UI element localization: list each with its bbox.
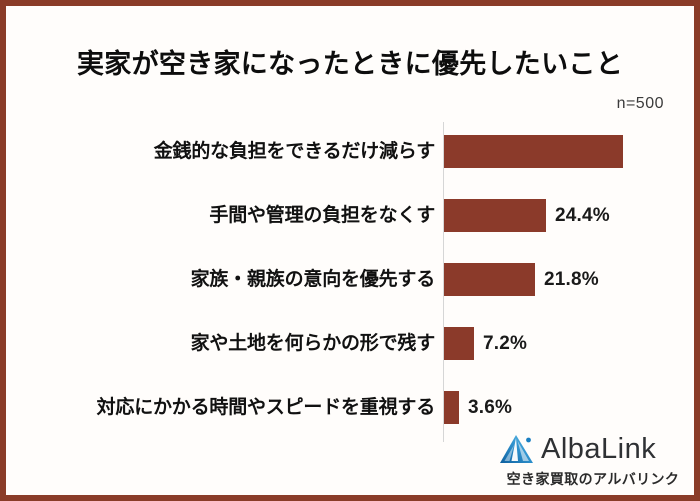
chart-row: 家や土地を何らかの形で残す 7.2% <box>6 327 694 360</box>
category-label: 対応にかかる時間やスピードを重視する <box>35 391 435 424</box>
bar[interactable] <box>444 263 535 296</box>
bar-chart: 金銭的な負担をできるだけ減らす 43.0% 手間や管理の負担をなくす 24.4%… <box>6 6 694 495</box>
bar[interactable] <box>444 199 546 232</box>
bar-value-label: 7.2% <box>483 333 527 355</box>
bar[interactable] <box>444 391 459 424</box>
bar-container: 7.2% <box>444 327 527 360</box>
brand-logo: AlbaLink 空き家買取のアルバリンク <box>498 430 688 490</box>
category-label: 家族・親族の意向を優先する <box>35 263 435 296</box>
chart-row: 対応にかかる時間やスピードを重視する 3.6% <box>6 391 694 424</box>
logo-wordmark: AlbaLink <box>541 433 656 465</box>
category-label: 金銭的な負担をできるだけ減らす <box>35 135 435 168</box>
chart-row: 家族・親族の意向を優先する 21.8% <box>6 263 694 296</box>
bar[interactable] <box>444 327 474 360</box>
bar-container: 43.0% <box>444 135 623 168</box>
albalink-triangle-icon <box>498 433 536 465</box>
bar-container: 24.4% <box>444 199 610 232</box>
chart-row: 金銭的な負担をできるだけ減らす 43.0% <box>6 135 694 168</box>
category-label: 家や土地を何らかの形で残す <box>35 327 435 360</box>
bar-container: 21.8% <box>444 263 599 296</box>
bar-value-label: 21.8% <box>544 269 599 291</box>
chart-row: 手間や管理の負担をなくす 24.4% <box>6 199 694 232</box>
category-label: 手間や管理の負担をなくす <box>35 199 435 232</box>
bar-container: 3.6% <box>444 391 512 424</box>
slide-frame: 実家が空き家になったときに優先したいこと n=500 金銭的な負担をできるだけ減… <box>0 0 700 501</box>
bar-value-label: 3.6% <box>468 397 512 419</box>
bar-value-label: 24.4% <box>555 205 610 227</box>
logo-tagline: 空き家買取のアルバリンク <box>498 469 688 489</box>
bar[interactable] <box>444 135 623 168</box>
logo-row: AlbaLink <box>498 430 688 468</box>
slide-canvas: 実家が空き家になったときに優先したいこと n=500 金銭的な負担をできるだけ減… <box>6 6 694 495</box>
